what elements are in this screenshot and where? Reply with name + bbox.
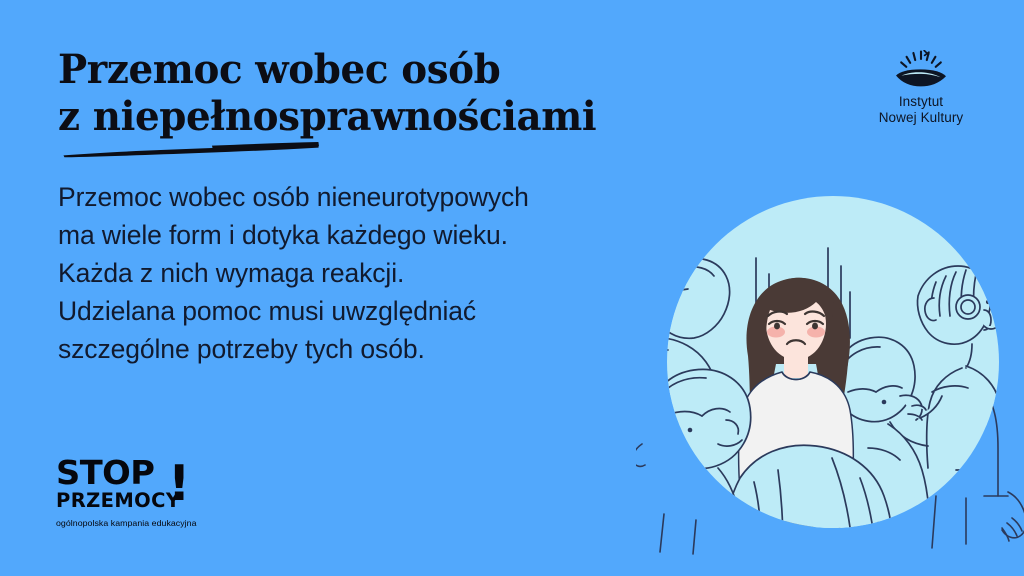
sunrise-hand-icon: [890, 50, 952, 90]
institute-logo: Instytut Nowej Kultury: [860, 50, 982, 125]
crowd-surrounding-sad-girl-illustration: [636, 196, 1024, 576]
campaign-tagline: ogólnopolska kampania edukacyjna: [56, 518, 291, 529]
hand-drawn-underline-icon: [62, 142, 320, 158]
page-title-line-1: Przemoc wobec osób: [58, 46, 737, 93]
page-title-line-2: z niepełnosprawnościami: [58, 93, 737, 140]
body-line: Przemoc wobec osób nieneurotypowych: [58, 178, 698, 216]
body-line: ma wiele form i dotyka każdego wieku.: [58, 216, 698, 254]
exclamation-mark-icon: !: [168, 459, 190, 508]
institute-name-line-1: Instytut: [860, 94, 982, 110]
stop-logo-wordmark: STOP PRZEMOCY !: [56, 458, 180, 512]
body-line: szczególne potrzeby tych osób.: [58, 330, 698, 368]
body-line: Każda z nich wymaga reakcji.: [58, 254, 698, 292]
stop-przemocy-logo: STOP PRZEMOCY ! ogólnopolska kampania ed…: [56, 458, 286, 529]
body-line: Udzielana pomoc musi uwzględniać: [58, 292, 698, 330]
institute-name-line-2: Nowej Kultury: [860, 110, 982, 126]
stop-word: STOP: [56, 458, 183, 488]
body-paragraph: Przemoc wobec osób nieneurotypowych ma w…: [58, 178, 698, 368]
przemocy-word: PRZEMOCY: [56, 490, 180, 512]
page-title: Przemoc wobec osób z niepełnosprawnościa…: [58, 46, 758, 140]
poster-canvas: Przemoc wobec osób z niepełnosprawnościa…: [0, 0, 1024, 576]
figure-lower-left-overflow: [636, 444, 696, 554]
